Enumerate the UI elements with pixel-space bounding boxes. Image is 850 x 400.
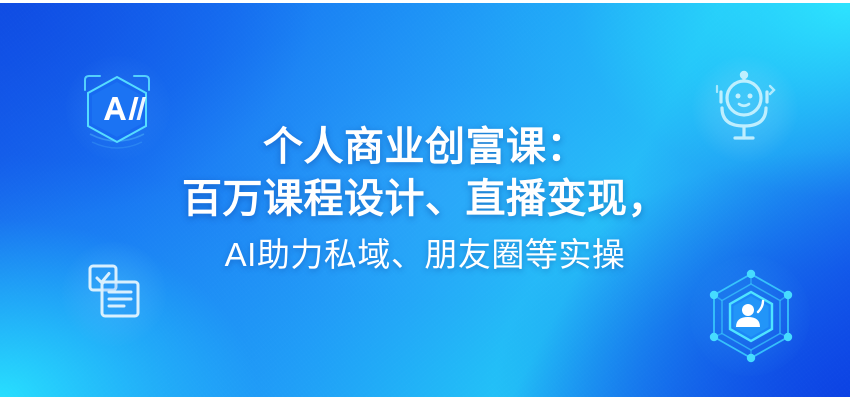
ai-shield-icon: [74, 64, 160, 156]
top-edge-strip: [0, 0, 850, 3]
document-checklist-icon: [64, 244, 164, 344]
ai-assistant-robot-icon: [694, 58, 794, 158]
course-promo-banner: 个人商业创富课： 百万课程设计、直播变现， AI助力私域、朋友圈等实操: [0, 0, 850, 400]
user-network-hexagon-icon: [696, 262, 806, 372]
